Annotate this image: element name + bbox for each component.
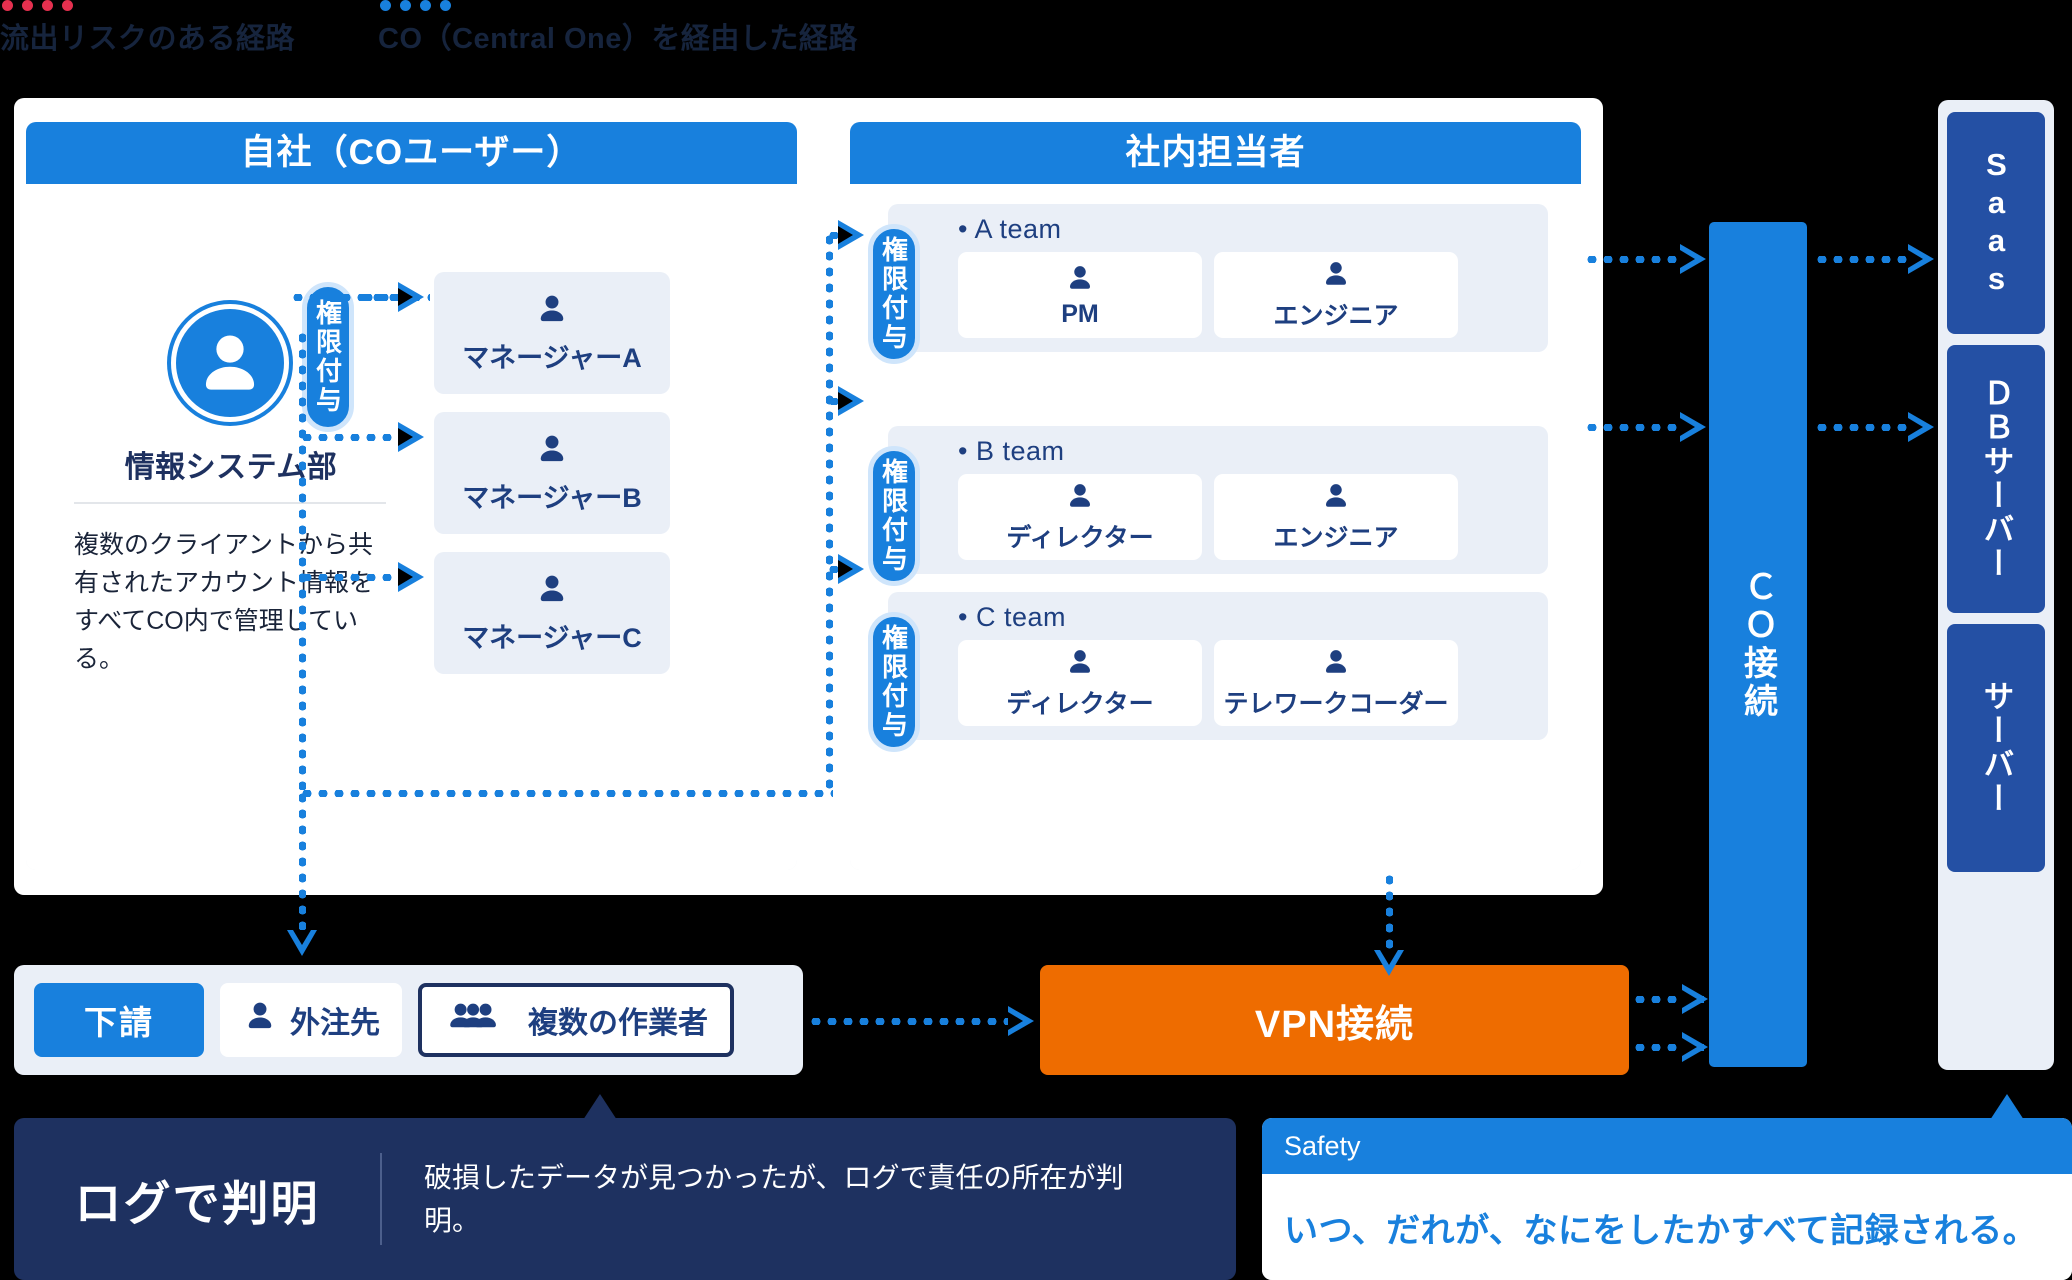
team-a-member-1[interactable]: PM xyxy=(958,252,1202,338)
callout-log-title: ログで判明 xyxy=(14,1165,380,1234)
chip-multiple-workers-label: 複数の作業者 xyxy=(528,998,708,1042)
team-b-member-2-label: エンジニア xyxy=(1273,518,1398,554)
subcontractor-strip: 下請 外注先 複数の作業者 xyxy=(14,965,803,1075)
department-name: 情報システム部 xyxy=(56,442,406,486)
subcontractor-tag: 下請 xyxy=(34,983,204,1057)
team-block-a: • A team PM エンジニア xyxy=(888,204,1548,352)
arrow-staff-to-vpn xyxy=(1374,950,1404,976)
connector-staff-to-vpn xyxy=(1386,872,1393,960)
panel-internal-staff-title: 社内担当者 xyxy=(850,122,1581,184)
manager-card-a[interactable]: マネージャーA xyxy=(434,272,670,394)
user-icon xyxy=(534,571,570,612)
arrow-co-to-saas xyxy=(1908,244,1934,274)
legend-label-leak-route: 流出リスクのある経路 xyxy=(0,15,295,57)
user-icon xyxy=(1064,646,1096,683)
team-b-title: • B team xyxy=(958,436,1065,467)
manager-b-label: マネージャーB xyxy=(462,476,642,515)
connector-own-to-staff xyxy=(299,790,833,797)
connector-staff-spine xyxy=(826,232,833,794)
team-a-member-1-label: PM xyxy=(1061,300,1099,329)
panel-own-company: 自社（COユーザー） 情報システム部 複数のクライアントから共有されたアカウント… xyxy=(26,122,797,870)
permission-pill-team-a: 権限付与 xyxy=(868,224,920,364)
server-saas-label: Saas xyxy=(1978,147,2014,299)
arrow-to-team-c xyxy=(838,554,864,584)
user-icon xyxy=(1320,480,1352,517)
team-b-member-1[interactable]: ディレクター xyxy=(958,474,1202,560)
team-b-member-1-label: ディレクター xyxy=(1006,518,1153,554)
arrow-to-team-a xyxy=(838,220,864,250)
callout-log: ログで判明 破損したデータが見つかったが、ログで責任の所在が判明。 xyxy=(14,1118,1236,1280)
user-icon xyxy=(1320,258,1352,295)
arrow-co-to-db xyxy=(1908,412,1934,442)
server-box-db[interactable]: ＤＢサーバー xyxy=(1947,345,2045,613)
panel-own-company-title: 自社（COユーザー） xyxy=(26,122,797,184)
single-user-icon xyxy=(242,998,278,1042)
permission-pill-own: 権限付与 xyxy=(302,282,354,432)
server-box-server[interactable]: サーバー xyxy=(1947,624,2045,872)
team-a-member-2[interactable]: エンジニア xyxy=(1214,252,1458,338)
callout-safety: Safety いつ、だれが、なにをしたかすべて記録される。 xyxy=(1262,1118,2072,1280)
divider xyxy=(74,502,386,504)
co-connection-bar[interactable]: ＣＯ接続 xyxy=(1709,222,1807,1067)
legend-dots-blue xyxy=(378,0,858,14)
server-server-label: サーバー xyxy=(1974,680,2019,816)
callout-safety-head: Safety xyxy=(1262,1118,2072,1174)
callout-log-text: 破損したデータが見つかったが、ログで責任の所在が判明。 xyxy=(424,1156,1164,1243)
legend-item-leak-route: 流出リスクのある経路 xyxy=(0,0,295,57)
user-icon xyxy=(534,291,570,332)
callout-safety-tick xyxy=(1990,1094,2024,1120)
arrow-to-manager-b xyxy=(398,422,424,452)
manager-c-label: マネージャーC xyxy=(462,616,642,655)
connector-permission-to-manager-b xyxy=(299,434,409,441)
arrow-vpn-to-co-2 xyxy=(1682,1032,1708,1062)
server-box-saas[interactable]: Saas xyxy=(1947,112,2045,334)
callout-log-divider xyxy=(380,1153,382,1245)
team-b-member-2[interactable]: エンジニア xyxy=(1214,474,1458,560)
arrow-to-subcontractor xyxy=(287,930,317,956)
panel-internal-staff: 社内担当者 • A team PM エンジニア • B team デ xyxy=(850,122,1581,870)
arrow-to-manager-a xyxy=(398,282,424,312)
manager-card-c[interactable]: マネージャーC xyxy=(434,552,670,674)
arrow-team-a-to-co xyxy=(1680,244,1706,274)
arrow-team-b-to-co xyxy=(1680,412,1706,442)
legend-item-co-route: CO（Central One）を経由した経路 xyxy=(378,0,858,57)
multi-user-icon xyxy=(444,998,516,1042)
permission-pill-team-b: 権限付与 xyxy=(868,446,920,586)
team-c-member-2[interactable]: テレワークコーダー xyxy=(1214,640,1458,726)
callout-safety-text: いつ、だれが、なにをしたかすべて記録される。 xyxy=(1262,1174,2072,1280)
connector-permission-to-subcontractor xyxy=(299,790,306,940)
team-a-member-2-label: エンジニア xyxy=(1273,296,1398,332)
team-block-b: • B team ディレクター エンジニア xyxy=(888,426,1548,574)
connector-permission-to-manager-c xyxy=(299,574,409,581)
chip-multiple-workers[interactable]: 複数の作業者 xyxy=(418,983,734,1057)
manager-a-label: マネージャーA xyxy=(462,336,642,375)
connector-subcontractor-to-vpn xyxy=(808,1018,1018,1025)
team-a-title: • A team xyxy=(958,214,1062,245)
user-avatar-icon xyxy=(171,304,289,422)
connector-permission-spine xyxy=(299,330,306,790)
co-connection-label: ＣＯ接続 xyxy=(1734,569,1783,721)
permission-pill-team-c: 権限付与 xyxy=(868,612,920,752)
legend-dots-red xyxy=(0,0,295,14)
callout-log-tick xyxy=(583,1094,617,1120)
arrow-to-team-b xyxy=(838,386,864,416)
arrow-to-manager-c xyxy=(398,562,424,592)
server-db-label: ＤＢサーバー xyxy=(1974,377,2019,581)
legend-label-co-route: CO（Central One）を経由した経路 xyxy=(378,15,858,57)
chip-outsourcing-partner-label: 外注先 xyxy=(290,998,380,1042)
team-c-member-1-label: ディレクター xyxy=(1006,684,1153,720)
user-icon xyxy=(1064,480,1096,517)
user-icon xyxy=(1320,646,1352,683)
vpn-connection-box[interactable]: VPN接続 xyxy=(1040,965,1629,1075)
vpn-connection-label: VPN接続 xyxy=(1255,993,1414,1048)
arrow-subcontractor-to-vpn xyxy=(1008,1006,1034,1036)
diagram-canvas: 流出リスクのある経路 CO（Central One）を経由した経路 自社（COユ… xyxy=(0,0,2072,1280)
chip-outsourcing-partner[interactable]: 外注先 xyxy=(220,983,402,1057)
team-c-title: • C team xyxy=(958,602,1066,633)
server-stack: Saas ＤＢサーバー サーバー xyxy=(1938,100,2054,1070)
user-icon xyxy=(1064,262,1096,299)
manager-card-b[interactable]: マネージャーB xyxy=(434,412,670,534)
team-c-member-1[interactable]: ディレクター xyxy=(958,640,1202,726)
panel-internal-staff-body: • A team PM エンジニア • B team ディレクター xyxy=(850,184,1581,870)
department-description: 複数のクライアントから共有されたアカウント情報をすべてCO内で管理している。 xyxy=(74,526,394,678)
user-icon xyxy=(534,431,570,472)
team-c-member-2-label: テレワークコーダー xyxy=(1223,684,1448,720)
arrow-vpn-to-co-1 xyxy=(1682,984,1708,1014)
team-block-c: • C team ディレクター テレワークコーダー xyxy=(888,592,1548,740)
